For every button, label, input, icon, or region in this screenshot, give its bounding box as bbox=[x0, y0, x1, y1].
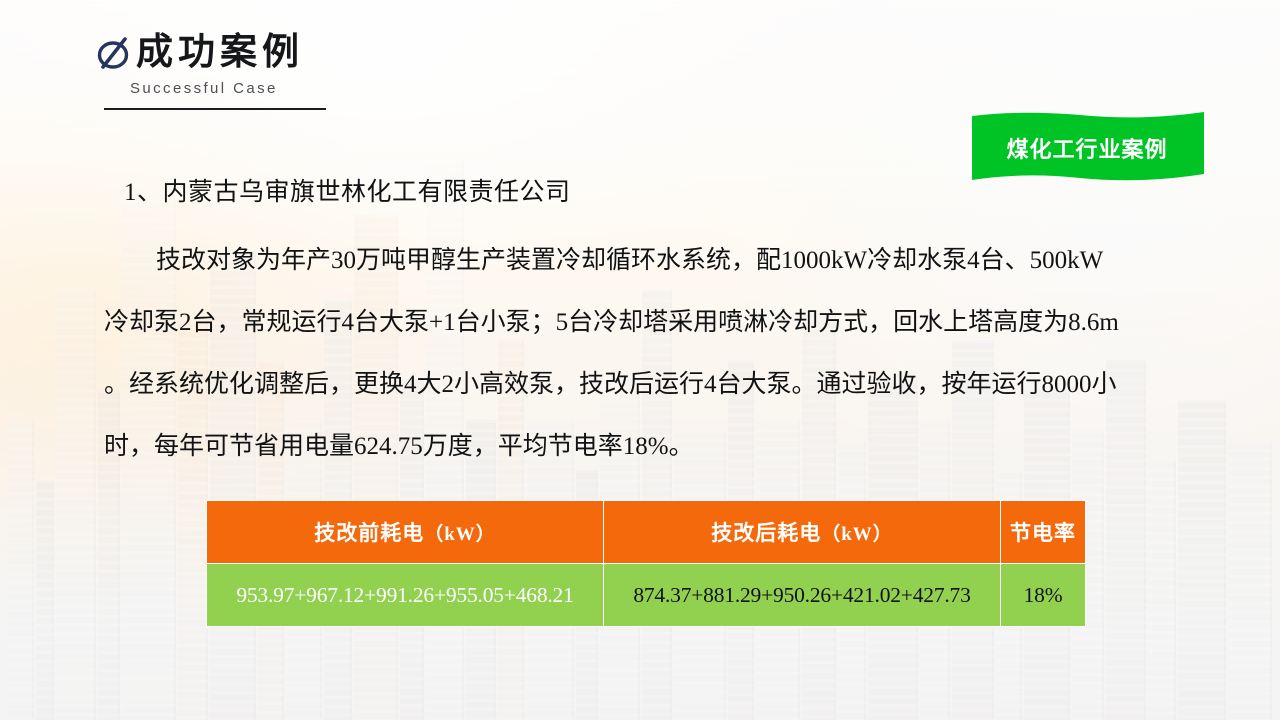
paragraph-line: 。经系统优化调整后，更换4大2小高效泵，技改后运行4台大泵。通过验收，按年运行8… bbox=[104, 354, 1184, 416]
cell-after-value: 874.37+881.29+950.26+421.02+427.73 bbox=[604, 564, 1001, 627]
title-underline bbox=[104, 108, 326, 110]
paragraph-line: 冷却泵2台，常规运行4台大泵+1台小泵；5台冷却塔采用喷淋冷却方式，回水上塔高度… bbox=[104, 292, 1184, 354]
page-title: 成功案例 bbox=[136, 30, 304, 74]
table-header: 技改前耗电（kW） 技改后耗电（kW） 节电率 bbox=[207, 501, 1086, 564]
column-header-before-unit: （kW） bbox=[424, 524, 496, 545]
column-header-after: 技改后耗电（kW） bbox=[604, 501, 1001, 564]
column-header-saving-rate-label: 节电率 bbox=[1010, 522, 1076, 545]
column-header-after-unit: （kW） bbox=[821, 524, 893, 545]
title-row: 成功案例 bbox=[96, 30, 326, 74]
page-subtitle: Successful Case bbox=[130, 80, 326, 97]
energy-comparison-table: 技改前耗电（kW） 技改后耗电（kW） 节电率 953.97+967.12+99… bbox=[206, 500, 1086, 627]
table-header-row: 技改前耗电（kW） 技改后耗电（kW） 节电率 bbox=[207, 501, 1086, 564]
cell-saving-rate-value: 18% bbox=[1001, 564, 1086, 627]
slide-canvas: 成功案例 Successful Case 煤化工行业案例 1、内蒙古乌审旗世林化… bbox=[0, 0, 1280, 720]
table-body: 953.97+967.12+991.26+955.05+468.21 874.3… bbox=[207, 564, 1086, 627]
case-item-heading: 1、内蒙古乌审旗世林化工有限责任公司 bbox=[124, 172, 1184, 208]
industry-badge-label: 煤化工行业案例 bbox=[962, 132, 1212, 164]
case-paragraph: 技改对象为年产30万吨甲醇生产装置冷却循环水系统，配1000kW冷却水泵4台、5… bbox=[104, 230, 1184, 478]
slide-header: 成功案例 Successful Case bbox=[96, 30, 326, 110]
paragraph-line: 时，每年可节省用电量624.75万度，平均节电率18%。 bbox=[104, 416, 1184, 478]
paragraph-line: 技改对象为年产30万吨甲醇生产装置冷却循环水系统，配1000kW冷却水泵4台、5… bbox=[104, 230, 1184, 292]
column-header-after-label: 技改后耗电 bbox=[711, 522, 821, 545]
table-row: 953.97+967.12+991.26+955.05+468.21 874.3… bbox=[207, 564, 1086, 627]
column-header-before-label: 技改前耗电 bbox=[314, 522, 424, 545]
column-header-before: 技改前耗电（kW） bbox=[207, 501, 604, 564]
column-header-saving-rate: 节电率 bbox=[1001, 501, 1086, 564]
content-block: 1、内蒙古乌审旗世林化工有限责任公司 技改对象为年产30万吨甲醇生产装置冷却循环… bbox=[104, 172, 1184, 478]
slash-circle-icon bbox=[96, 31, 130, 73]
cell-before-value: 953.97+967.12+991.26+955.05+468.21 bbox=[207, 564, 604, 627]
